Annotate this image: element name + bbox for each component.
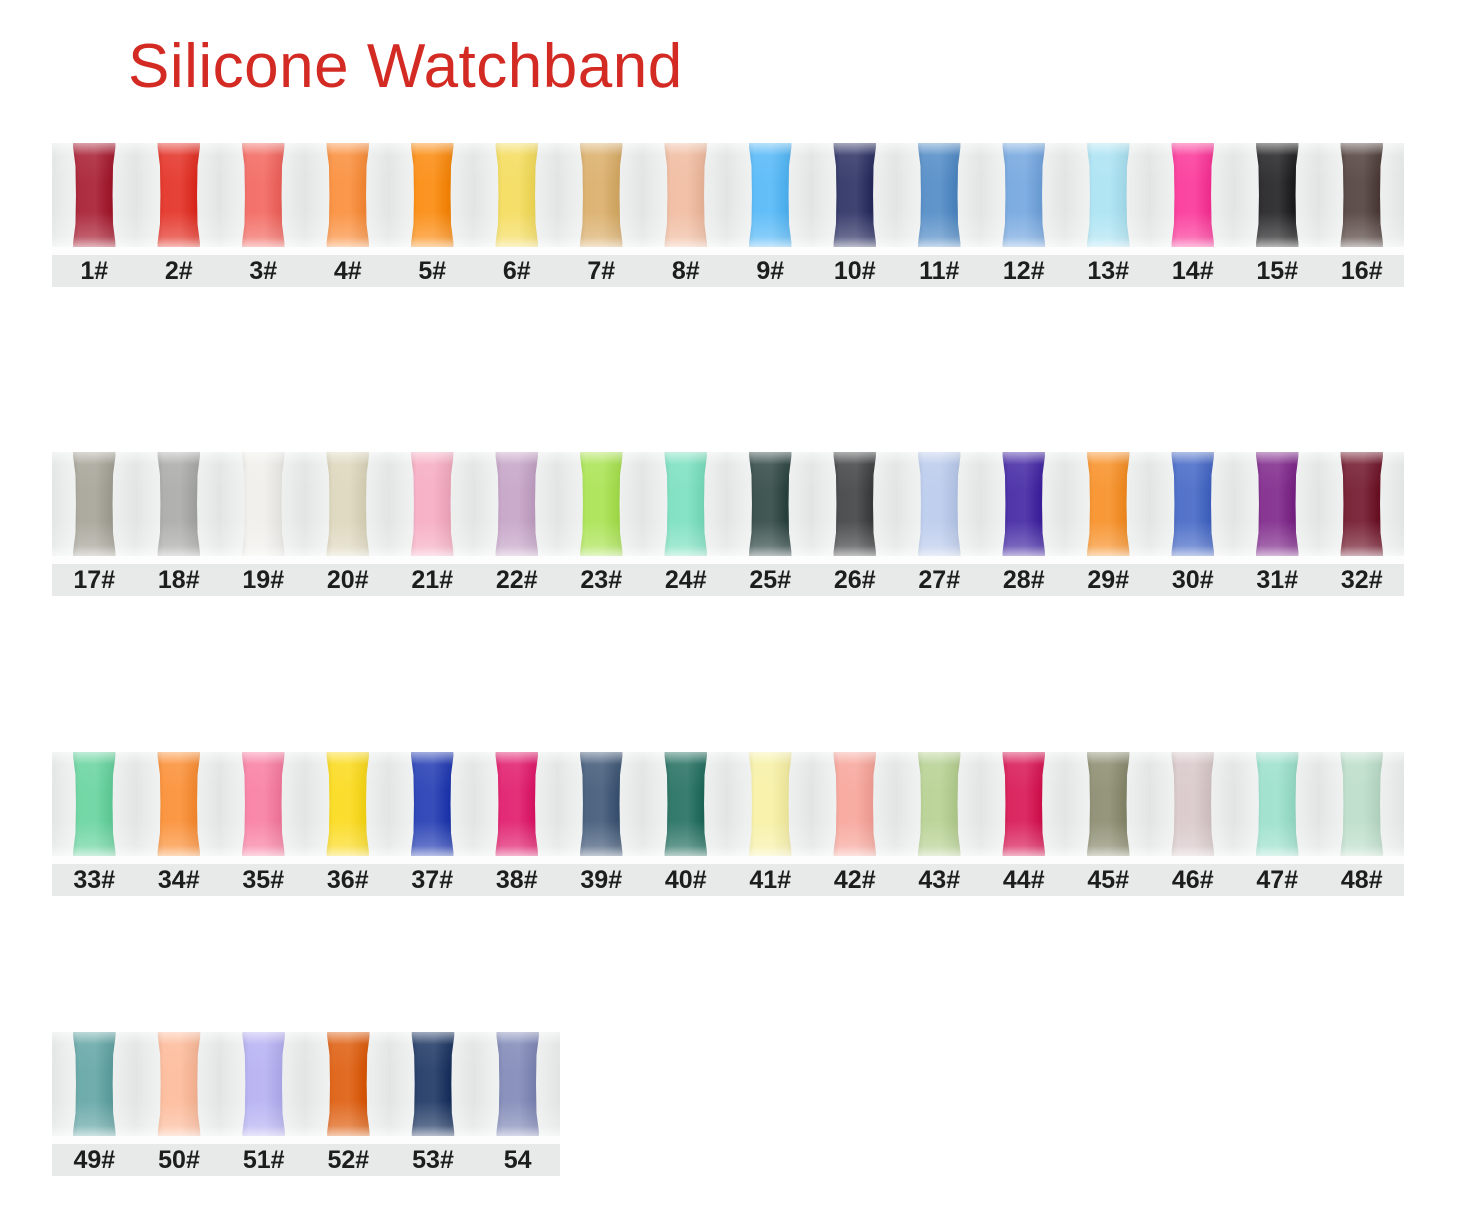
swatch-label: 22#	[475, 568, 560, 593]
watchband-swatch[interactable]	[155, 143, 203, 247]
swatch-label: 11#	[897, 259, 982, 284]
color-swatch-cell[interactable]	[475, 1032, 560, 1136]
swatch-label: 45#	[1066, 868, 1151, 893]
color-swatch-cell[interactable]	[475, 143, 560, 247]
watchband-swatch[interactable]	[408, 452, 456, 556]
color-swatch-cell[interactable]	[391, 1032, 476, 1136]
watchband-swatch[interactable]	[1253, 143, 1301, 247]
color-swatch-cell[interactable]	[813, 143, 898, 247]
watchband-swatch[interactable]	[494, 1032, 542, 1136]
watchband-swatch[interactable]	[662, 143, 710, 247]
watchband-swatch[interactable]	[409, 1032, 457, 1136]
watchband-swatch[interactable]	[1338, 752, 1386, 856]
color-swatch-cell[interactable]	[897, 452, 982, 556]
swatch-label: 44#	[982, 868, 1067, 893]
color-swatch-cell[interactable]	[1066, 752, 1151, 856]
color-swatch-cell[interactable]	[306, 143, 391, 247]
color-swatch-cell[interactable]	[1235, 143, 1320, 247]
watchband-swatch[interactable]	[1169, 143, 1217, 247]
color-swatch-cell[interactable]	[221, 452, 306, 556]
label-strip: 1#2#3#4#5#6#7#8#9#10#11#12#13#14#15#16#	[52, 255, 1404, 287]
color-swatch-cell[interactable]	[137, 1032, 222, 1136]
strip-gap	[52, 1136, 560, 1144]
color-swatch-cell[interactable]	[221, 143, 306, 247]
swatch-label: 25#	[728, 568, 813, 593]
watchband-swatch[interactable]	[155, 452, 203, 556]
swatch-label: 51#	[221, 1148, 306, 1173]
color-swatch-cell[interactable]	[644, 452, 729, 556]
swatch-label: 23#	[559, 568, 644, 593]
swatch-label: 32#	[1320, 568, 1405, 593]
watchband-swatch[interactable]	[324, 143, 372, 247]
swatch-label: 50#	[137, 1148, 222, 1173]
watchband-swatch[interactable]	[831, 452, 879, 556]
watchband-swatch[interactable]	[1084, 752, 1132, 856]
watchband-swatch[interactable]	[831, 752, 879, 856]
color-swatch-cell[interactable]	[897, 143, 982, 247]
swatch-label: 37#	[390, 868, 475, 893]
swatch-label: 7#	[559, 259, 644, 284]
color-swatch-cell[interactable]	[982, 752, 1067, 856]
color-swatch-cell[interactable]	[221, 1032, 306, 1136]
swatch-label: 19#	[221, 568, 306, 593]
watchband-swatch[interactable]	[1253, 452, 1301, 556]
swatch-label: 33#	[52, 868, 137, 893]
watchband-swatch[interactable]	[493, 452, 541, 556]
color-swatch-cell[interactable]	[52, 143, 137, 247]
color-swatch-cell[interactable]	[1151, 143, 1236, 247]
color-swatch-cell[interactable]	[306, 452, 391, 556]
color-swatch-cell[interactable]	[1320, 752, 1405, 856]
color-swatch-cell[interactable]	[728, 143, 813, 247]
swatch-label: 48#	[1320, 868, 1405, 893]
label-strip: 17#18#19#20#21#22#23#24#25#26#27#28#29#3…	[52, 564, 1404, 596]
color-swatch-cell[interactable]	[52, 752, 137, 856]
swatch-label: 15#	[1235, 259, 1320, 284]
watchband-swatch[interactable]	[915, 143, 963, 247]
swatch-label: 3#	[221, 259, 306, 284]
page-title: Silicone Watchband	[128, 34, 683, 99]
color-swatch-cell[interactable]	[306, 752, 391, 856]
watchband-swatch[interactable]	[239, 452, 287, 556]
watchband-swatch[interactable]	[155, 752, 203, 856]
watchband-swatch[interactable]	[746, 452, 794, 556]
watchband-swatch[interactable]	[1000, 752, 1048, 856]
swatch-label: 49#	[52, 1148, 137, 1173]
swatch-label: 17#	[52, 568, 137, 593]
watchband-swatch[interactable]	[239, 752, 287, 856]
color-swatch-cell[interactable]	[1320, 143, 1405, 247]
swatch-label: 26#	[813, 568, 898, 593]
watchband-swatch[interactable]	[1084, 143, 1132, 247]
swatch-label: 36#	[306, 868, 391, 893]
watchband-swatch[interactable]	[915, 452, 963, 556]
color-swatch-cell[interactable]	[475, 752, 560, 856]
watchband-swatch[interactable]	[1000, 452, 1048, 556]
swatch-row: 33#34#35#36#37#38#39#40#41#42#43#44#45#4…	[52, 752, 1404, 896]
watchband-swatch[interactable]	[70, 143, 118, 247]
swatch-label: 28#	[982, 568, 1067, 593]
swatch-label: 53#	[391, 1148, 476, 1173]
watchband-swatch[interactable]	[70, 452, 118, 556]
watchband-swatch[interactable]	[324, 752, 372, 856]
swatch-label: 1#	[52, 259, 137, 284]
color-swatch-cell[interactable]	[982, 143, 1067, 247]
color-swatch-cell[interactable]	[221, 752, 306, 856]
swatch-label: 27#	[897, 568, 982, 593]
swatch-label: 10#	[813, 259, 898, 284]
color-swatch-cell[interactable]	[306, 1032, 391, 1136]
swatch-label: 31#	[1235, 568, 1320, 593]
color-swatch-cell[interactable]	[137, 452, 222, 556]
swatch-label: 9#	[728, 259, 813, 284]
swatch-label: 24#	[644, 568, 729, 593]
strip-gap	[52, 856, 1404, 864]
watchband-swatch[interactable]	[662, 752, 710, 856]
watchband-swatch[interactable]	[746, 752, 794, 856]
watchband-swatch[interactable]	[1084, 452, 1132, 556]
color-swatch-cell[interactable]	[897, 752, 982, 856]
swatch-label: 42#	[813, 868, 898, 893]
watchband-swatch[interactable]	[577, 143, 625, 247]
swatch-label: 39#	[559, 868, 644, 893]
color-swatch-cell[interactable]	[1066, 143, 1151, 247]
watchband-swatch[interactable]	[493, 752, 541, 856]
color-swatch-cell[interactable]	[644, 143, 729, 247]
color-swatch-cell[interactable]	[559, 143, 644, 247]
swatch-label: 16#	[1320, 259, 1405, 284]
watchband-swatch[interactable]	[324, 452, 372, 556]
swatch-label: 12#	[982, 259, 1067, 284]
swatch-label: 2#	[137, 259, 222, 284]
swatch-strip	[52, 752, 1404, 856]
swatch-label: 4#	[306, 259, 391, 284]
watchband-swatch[interactable]	[1169, 452, 1217, 556]
label-strip: 49#50#51#52#53#54	[52, 1144, 560, 1176]
watchband-swatch[interactable]	[70, 1032, 118, 1136]
color-swatch-cell[interactable]	[813, 752, 898, 856]
watchband-swatch[interactable]	[1253, 752, 1301, 856]
swatch-label: 18#	[137, 568, 222, 593]
swatch-label: 35#	[221, 868, 306, 893]
watchband-swatch[interactable]	[746, 143, 794, 247]
color-swatch-cell[interactable]	[475, 452, 560, 556]
strip-gap	[52, 556, 1404, 564]
color-swatch-cell[interactable]	[728, 752, 813, 856]
color-swatch-cell[interactable]	[644, 752, 729, 856]
color-chart-page: Silicone Watchband 1#2#3#4#5#6#7#8#9#10#…	[0, 0, 1468, 1212]
color-swatch-cell[interactable]	[813, 452, 898, 556]
swatch-label: 47#	[1235, 868, 1320, 893]
swatch-label: 13#	[1066, 259, 1151, 284]
swatch-label: 52#	[306, 1148, 391, 1173]
swatch-label: 41#	[728, 868, 813, 893]
strip-gap	[52, 247, 1404, 255]
watchband-swatch[interactable]	[662, 452, 710, 556]
swatch-label: 43#	[897, 868, 982, 893]
swatch-strip	[52, 143, 1404, 247]
color-swatch-cell[interactable]	[390, 452, 475, 556]
watchband-swatch[interactable]	[577, 752, 625, 856]
color-swatch-cell[interactable]	[137, 143, 222, 247]
swatch-label: 54	[475, 1148, 560, 1173]
swatch-row: 1#2#3#4#5#6#7#8#9#10#11#12#13#14#15#16#	[52, 143, 1404, 287]
color-swatch-cell[interactable]	[390, 752, 475, 856]
color-swatch-cell[interactable]	[1235, 452, 1320, 556]
color-swatch-cell[interactable]	[728, 452, 813, 556]
watchband-swatch[interactable]	[1338, 143, 1386, 247]
swatch-label: 21#	[390, 568, 475, 593]
watchband-swatch[interactable]	[155, 1032, 203, 1136]
swatch-label: 40#	[644, 868, 729, 893]
watchband-swatch[interactable]	[408, 752, 456, 856]
color-swatch-cell[interactable]	[1235, 752, 1320, 856]
color-swatch-cell[interactable]	[390, 143, 475, 247]
swatch-label: 34#	[137, 868, 222, 893]
swatch-label: 6#	[475, 259, 560, 284]
watchband-swatch[interactable]	[240, 1032, 288, 1136]
swatch-row: 17#18#19#20#21#22#23#24#25#26#27#28#29#3…	[52, 452, 1404, 596]
swatch-label: 8#	[644, 259, 729, 284]
color-swatch-cell[interactable]	[52, 1032, 137, 1136]
swatch-label: 29#	[1066, 568, 1151, 593]
swatch-label: 14#	[1151, 259, 1236, 284]
watchband-swatch[interactable]	[915, 752, 963, 856]
swatch-row: 49#50#51#52#53#54	[52, 1032, 560, 1176]
color-swatch-cell[interactable]	[559, 752, 644, 856]
watchband-swatch[interactable]	[70, 752, 118, 856]
color-swatch-cell[interactable]	[982, 452, 1067, 556]
watchband-swatch[interactable]	[324, 1032, 372, 1136]
watchband-swatch[interactable]	[831, 143, 879, 247]
color-swatch-cell[interactable]	[52, 452, 137, 556]
watchband-swatch[interactable]	[1169, 752, 1217, 856]
swatch-label: 46#	[1151, 868, 1236, 893]
swatch-label: 20#	[306, 568, 391, 593]
color-swatch-cell[interactable]	[559, 452, 644, 556]
watchband-swatch[interactable]	[408, 143, 456, 247]
color-swatch-cell[interactable]	[137, 752, 222, 856]
color-swatch-cell[interactable]	[1066, 452, 1151, 556]
swatch-label: 38#	[475, 868, 560, 893]
color-swatch-cell[interactable]	[1151, 752, 1236, 856]
swatch-strip	[52, 1032, 560, 1136]
swatch-strip	[52, 452, 1404, 556]
watchband-swatch[interactable]	[1000, 143, 1048, 247]
color-swatch-cell[interactable]	[1320, 452, 1405, 556]
watchband-swatch[interactable]	[239, 143, 287, 247]
color-swatch-cell[interactable]	[1151, 452, 1236, 556]
swatch-label: 5#	[390, 259, 475, 284]
watchband-swatch[interactable]	[577, 452, 625, 556]
label-strip: 33#34#35#36#37#38#39#40#41#42#43#44#45#4…	[52, 864, 1404, 896]
watchband-swatch[interactable]	[493, 143, 541, 247]
watchband-swatch[interactable]	[1338, 452, 1386, 556]
swatch-label: 30#	[1151, 568, 1236, 593]
